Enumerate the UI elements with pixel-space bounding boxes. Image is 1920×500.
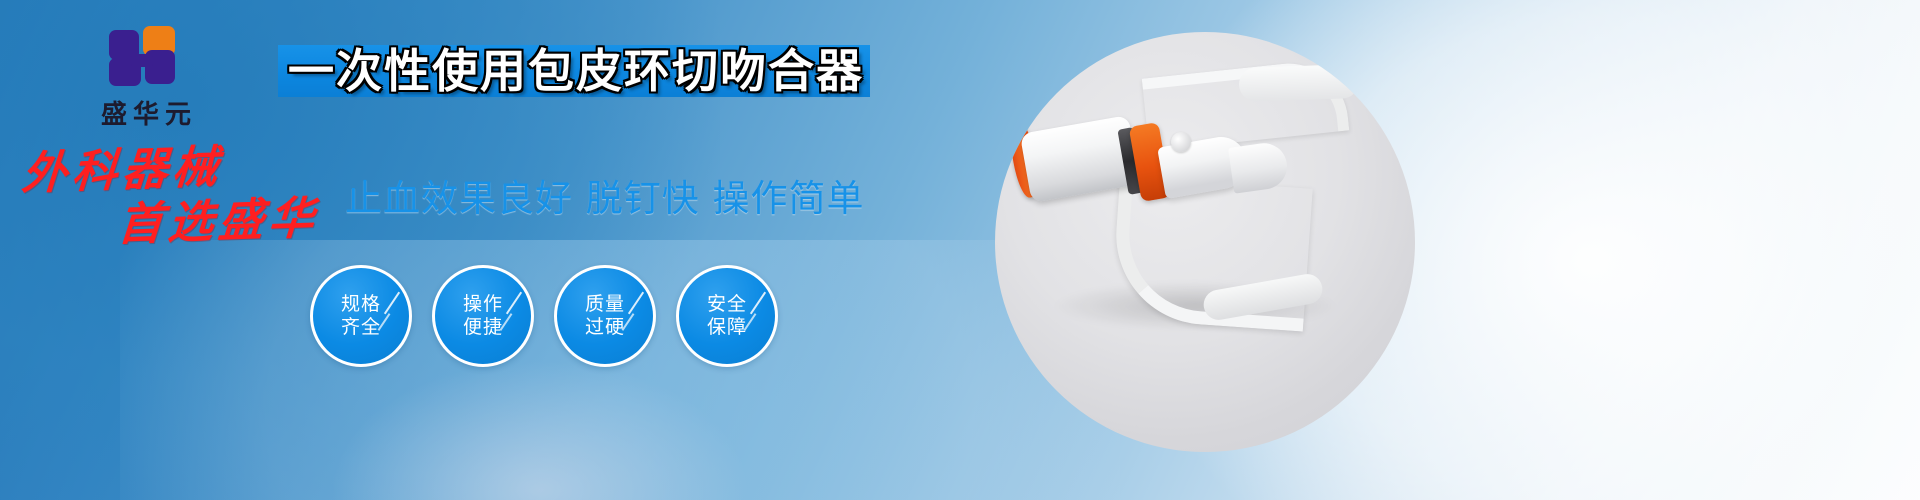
feature-circle-2[interactable]: 操作 便捷 [432, 265, 534, 367]
feature-circle-2-line-2: 便捷 [463, 316, 503, 339]
slash-accent-icon [750, 292, 766, 315]
brand-name: 盛华元 [66, 94, 226, 131]
feature-circle-1[interactable]: 规格 齐全 [310, 265, 412, 367]
feature-circle-3-line-1: 质量 [585, 293, 625, 316]
page-title: 一次性使用包皮环切吻合器 [288, 42, 888, 100]
feature-circle-3[interactable]: 质量 过硬 [554, 265, 656, 367]
slash-accent-icon [384, 292, 400, 315]
feature-circle-1-line-1: 规格 [341, 293, 381, 316]
shenghuayuan-logo-icon [103, 26, 189, 90]
product-image-stage [995, 32, 1415, 452]
subtitle: 止血效果良好 脱钉快 操作简单 [345, 168, 865, 222]
logo-bridge [131, 54, 153, 67]
slash-accent-icon [628, 292, 644, 315]
feature-circle-4-line-2: 保障 [707, 316, 747, 339]
feature-circle-3-line-2: 过硬 [585, 316, 625, 339]
feature-circle-4[interactable]: 安全 保障 [676, 265, 778, 367]
product-tip [1228, 140, 1290, 193]
product-upper-arm-handle [1238, 64, 1359, 102]
disposable-circumcision-stapler-image [995, 32, 1415, 452]
slash-accent-icon [506, 292, 522, 315]
feature-circle-4-line-1: 安全 [707, 293, 747, 316]
background-soft-highlight [330, 360, 750, 500]
product-pivot [1171, 132, 1191, 152]
feature-circle-2-line-1: 操作 [463, 293, 503, 316]
feature-circle-1-line-2: 齐全 [341, 316, 381, 339]
brand-logo: 盛华元 [66, 26, 226, 131]
promotional-banner: 盛华元 外科器械 首选盛华 一次性使用包皮环切吻合器 止血效果良好 脱钉快 操作… [0, 0, 1920, 500]
feature-circle-list: 规格 齐全 操作 便捷 质量 过硬 安全 保障 [310, 265, 778, 367]
